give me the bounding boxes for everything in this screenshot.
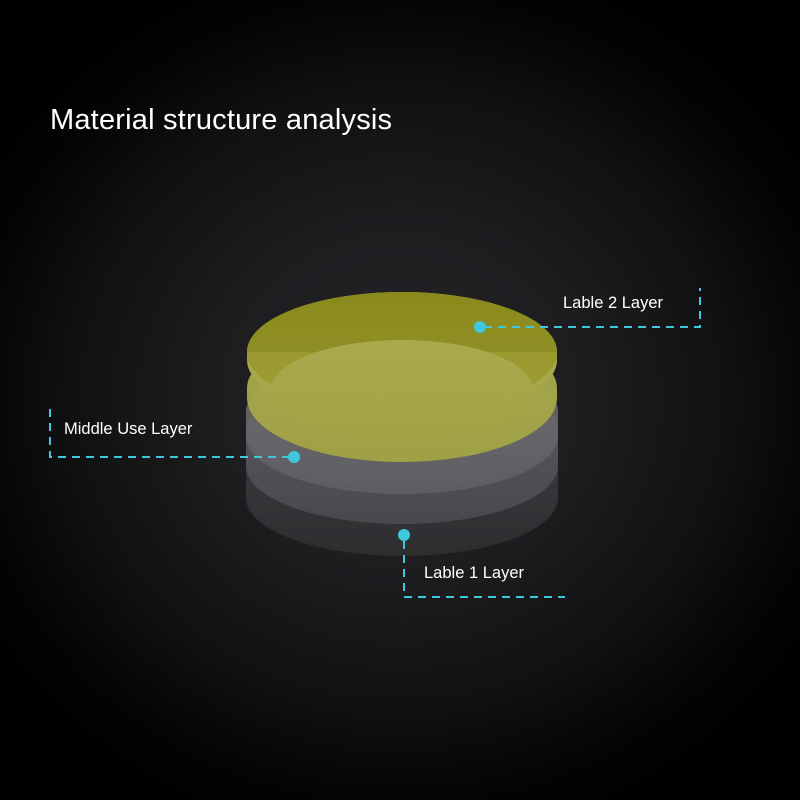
anchor-dot-lable-1[interactable] [398,529,410,541]
anchor-dot-lable-2[interactable] [474,321,486,333]
label-lable-1-layer: Lable 1 Layer [424,564,524,583]
material-structure-figure [0,0,800,800]
layer-lable-2 [247,292,557,462]
anchor-dot-middle-use[interactable] [288,451,300,463]
diagram-canvas: Material structure analysis [0,0,800,800]
top-layer-basin-face [271,340,533,440]
label-lable-2-layer: Lable 2 Layer [563,294,663,313]
label-middle-use-layer: Middle Use Layer [64,420,192,439]
